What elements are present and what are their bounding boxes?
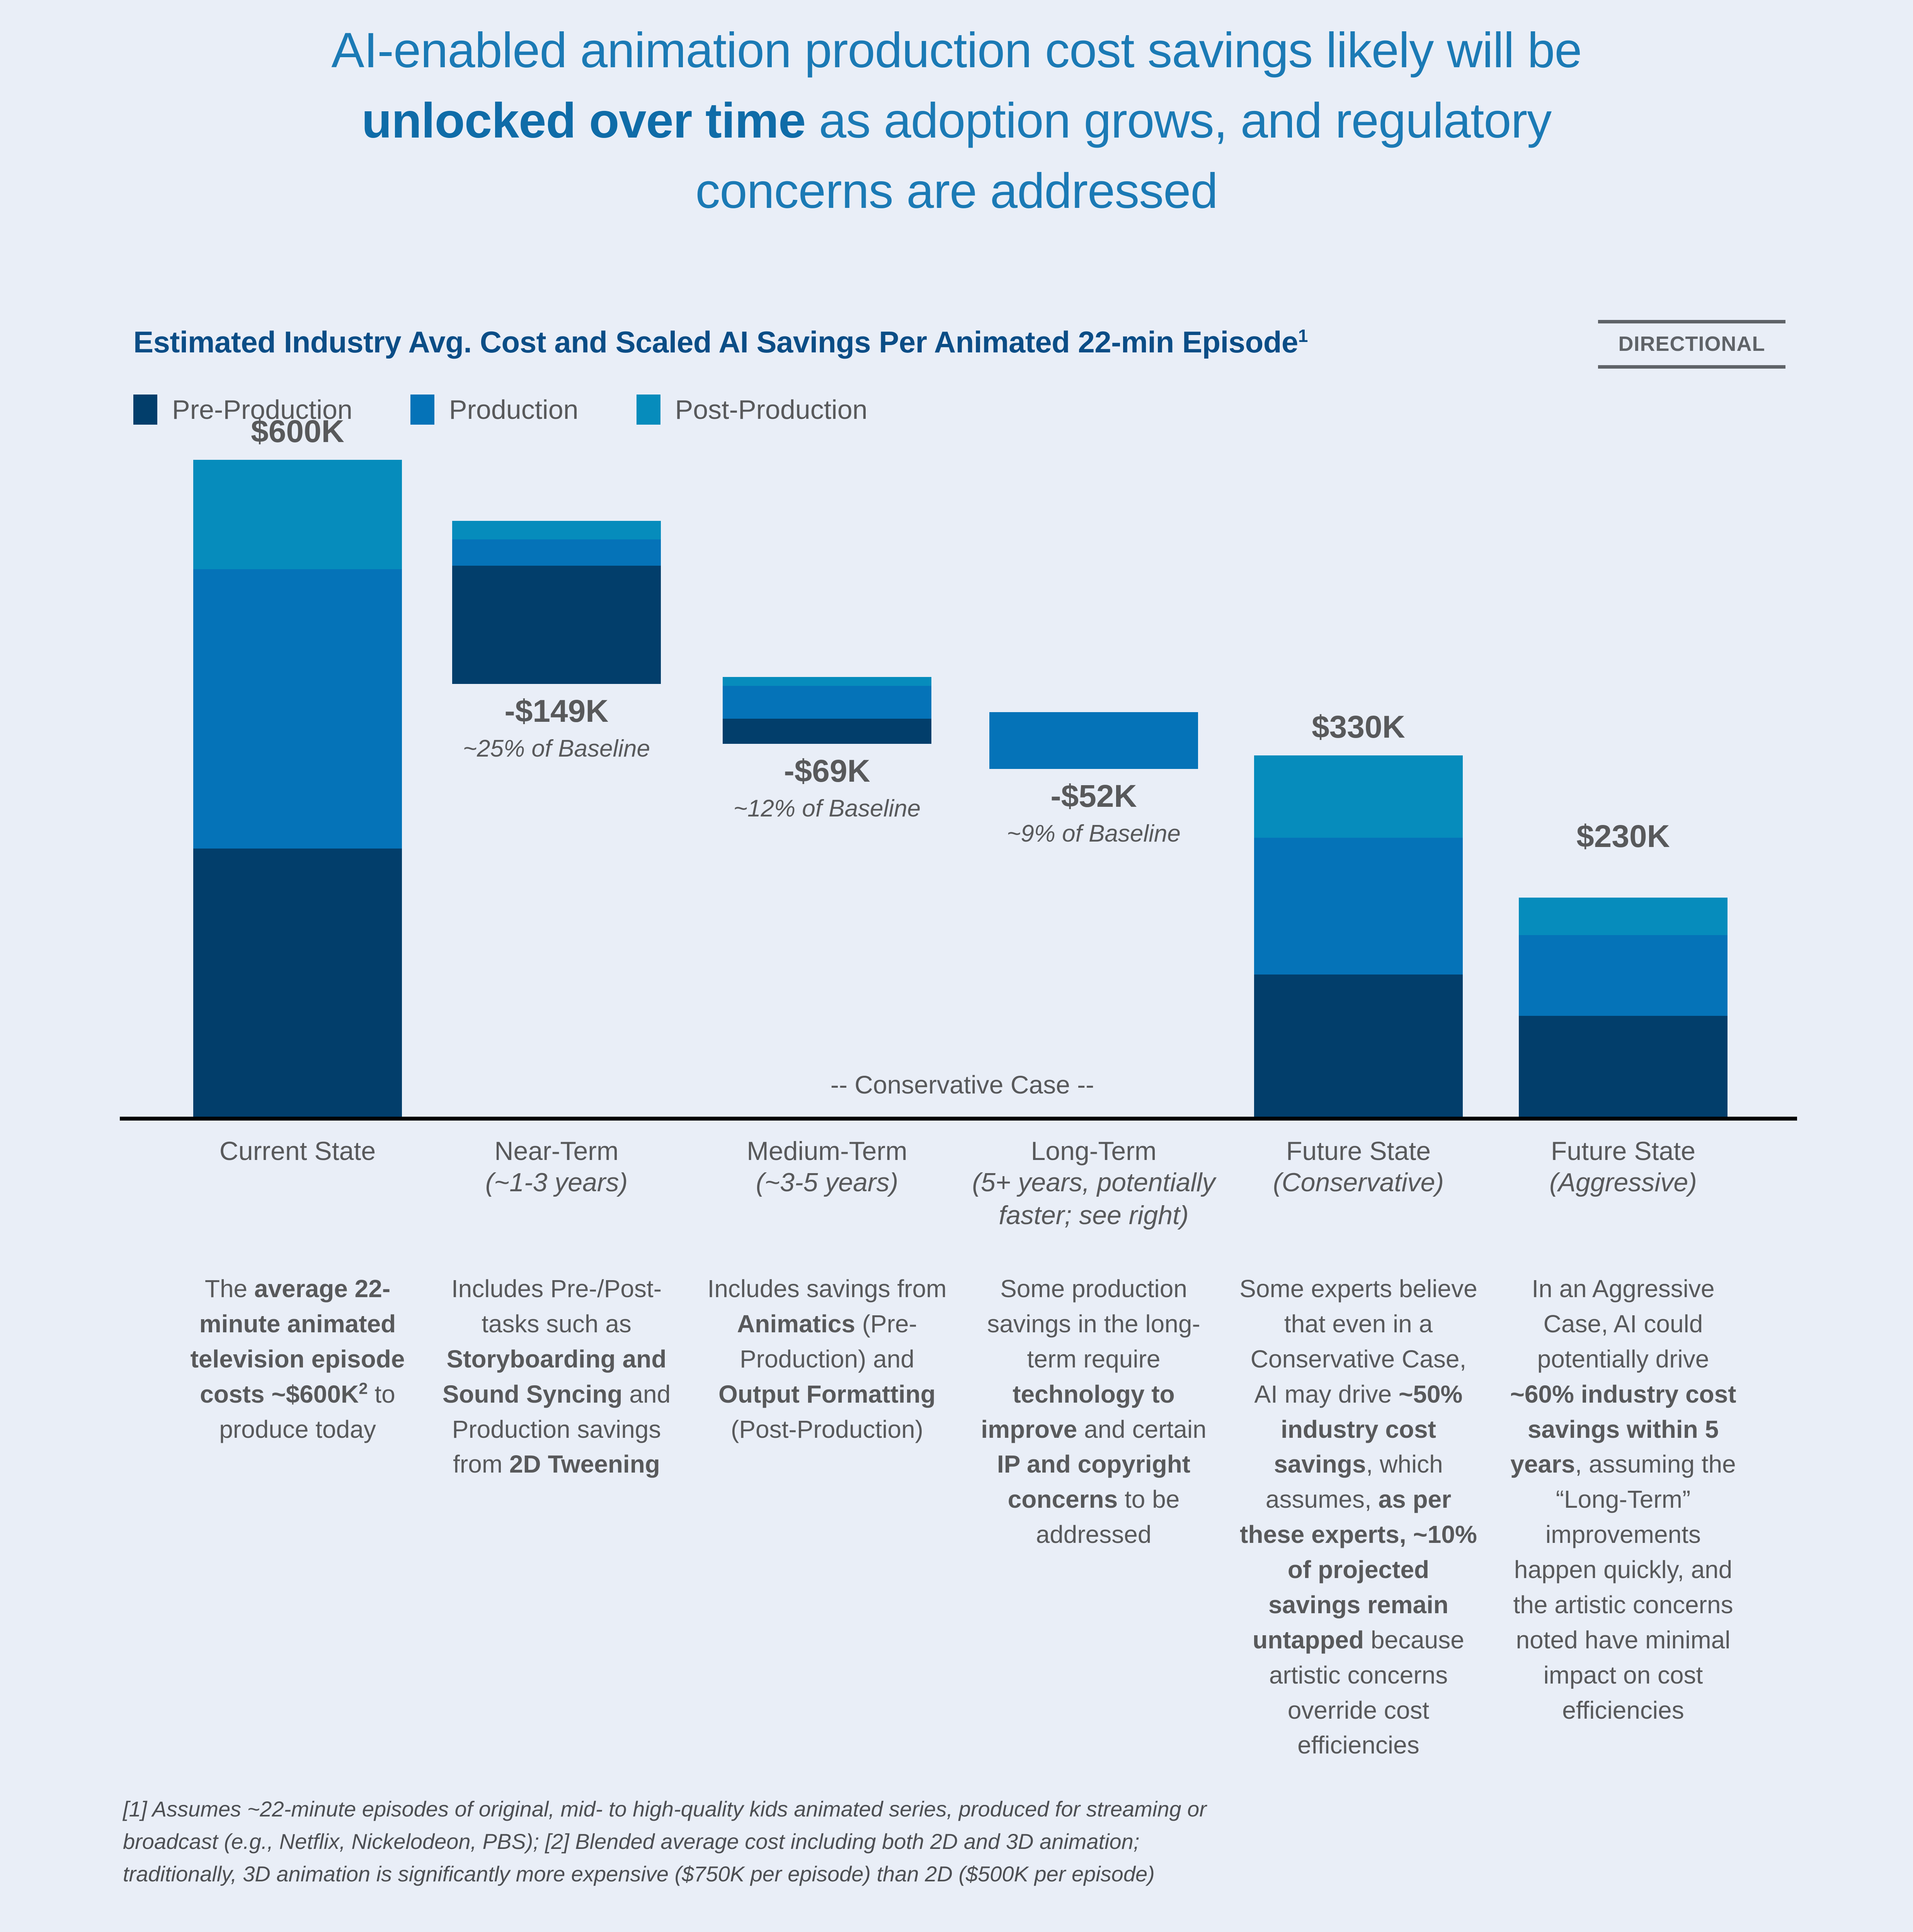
- legend-label: Production: [449, 394, 579, 425]
- badge-label: DIRECTIONAL: [1598, 323, 1785, 365]
- bar-column[interactable]: [193, 460, 402, 1117]
- bar-column[interactable]: [989, 712, 1198, 769]
- chart-title: Estimated Industry Avg. Cost and Scaled …: [133, 325, 1308, 360]
- footnotes: [1] Assumes ~22-minute episodes of origi…: [123, 1793, 1785, 1890]
- stacked-bar[interactable]: [989, 712, 1198, 769]
- category-label-primary: Near-Term: [421, 1136, 692, 1166]
- directional-badge: DIRECTIONAL: [1598, 320, 1785, 369]
- badge-top-rule: [1598, 320, 1785, 323]
- badge-bottom-rule: [1598, 365, 1785, 369]
- bar-segment-production[interactable]: [1519, 935, 1727, 1016]
- category-label-4: Long-Term(5+ years, potentially faster; …: [958, 1136, 1229, 1232]
- bar-segment-production[interactable]: [723, 686, 931, 719]
- footnote-line-1: [1] Assumes ~22-minute episodes of origi…: [123, 1793, 1785, 1825]
- description-column-3: Includes savings from Animatics (Pre-Pro…: [707, 1271, 947, 1447]
- bar-column[interactable]: [452, 521, 661, 684]
- bar-segment-production[interactable]: [1254, 838, 1463, 975]
- bar-percent-of-baseline: ~12% of Baseline: [707, 795, 947, 822]
- category-label-secondary: (~3-5 years): [692, 1166, 962, 1199]
- legend-swatch-icon: [637, 395, 660, 425]
- bar-segment-post-production[interactable]: [193, 460, 402, 569]
- title-line-2-rest: as adoption grows, and regulatory: [805, 93, 1551, 148]
- bar-percent-of-baseline: ~9% of Baseline: [974, 820, 1213, 847]
- bar-column[interactable]: [723, 677, 931, 744]
- x-axis-line: [120, 1117, 1797, 1121]
- legend-label: Post-Production: [675, 394, 868, 425]
- category-label-primary: Long-Term: [958, 1136, 1229, 1166]
- bar-segment-production[interactable]: [452, 539, 661, 566]
- conservative-case-annotation: -- Conservative Case --: [692, 1070, 1233, 1099]
- stacked-bar[interactable]: [1519, 898, 1727, 1117]
- category-label-5: Future State(Conservative): [1223, 1136, 1494, 1199]
- bar-value-label-group: -$69K~12% of Baseline: [707, 753, 947, 822]
- bar-segment-post-production[interactable]: [1254, 755, 1463, 838]
- stacked-bar[interactable]: [723, 677, 931, 744]
- category-label-secondary: (~1-3 years): [421, 1166, 692, 1199]
- description-column-1: The average 22-minute animated televisio…: [178, 1271, 417, 1447]
- bar-segment-production[interactable]: [989, 712, 1198, 769]
- bar-percent-of-baseline: ~25% of Baseline: [437, 735, 676, 762]
- title-line-2: unlocked over time as adoption grows, an…: [0, 86, 1913, 156]
- legend-item-post-production: Post-Production: [637, 394, 868, 425]
- bar-segment-post-production[interactable]: [723, 677, 931, 686]
- description-column-2: Includes Pre-/Post-tasks such as Storybo…: [437, 1271, 676, 1482]
- category-label-primary: Current State: [162, 1136, 433, 1166]
- bar-value-label: -$149K: [437, 693, 676, 730]
- x-axis-category-labels: Current StateNear-Term(~1-3 years)Medium…: [120, 1136, 1797, 1244]
- title-line-1: AI-enabled animation production cost sav…: [0, 15, 1913, 86]
- bar-segment-post-production[interactable]: [1519, 898, 1727, 935]
- bar-segment-pre-production[interactable]: [1519, 1016, 1727, 1117]
- bar-column[interactable]: [1519, 898, 1727, 1117]
- stacked-bar[interactable]: [452, 521, 661, 684]
- title-emphasis: unlocked over time: [362, 93, 806, 148]
- bar-value-label-group: -$52K~9% of Baseline: [974, 778, 1213, 847]
- stacked-bar[interactable]: [1254, 755, 1463, 1117]
- category-label-1: Current State: [162, 1136, 433, 1166]
- category-label-primary: Medium-Term: [692, 1136, 962, 1166]
- category-label-secondary: (Conservative): [1223, 1166, 1494, 1199]
- bar-segment-pre-production[interactable]: [452, 566, 661, 684]
- legend-swatch-icon: [410, 395, 434, 425]
- description-column-6: In an Aggressive Case, AI could potentia…: [1503, 1271, 1743, 1728]
- footnote-line-3: traditionally, 3D animation is significa…: [123, 1858, 1785, 1890]
- bar-value-label: $230K: [1519, 818, 1727, 855]
- category-label-secondary: (5+ years, potentially faster; see right…: [958, 1166, 1229, 1232]
- page-title: AI-enabled animation production cost sav…: [0, 15, 1913, 226]
- bar-segment-pre-production[interactable]: [1254, 975, 1463, 1117]
- bar-value-label-group: -$149K~25% of Baseline: [437, 693, 676, 762]
- category-label-secondary: (Aggressive): [1488, 1166, 1758, 1199]
- chart-title-footnote-marker: 1: [1298, 326, 1308, 346]
- chart-plot-area: -- Conservative Case -- $600K-$149K~25% …: [120, 456, 1797, 1121]
- category-label-6: Future State(Aggressive): [1488, 1136, 1758, 1199]
- description-column-4: Some production savings in the long-term…: [974, 1271, 1213, 1552]
- bar-value-label: $600K: [193, 413, 402, 450]
- bar-value-label: $330K: [1254, 709, 1463, 745]
- bar-segment-post-production[interactable]: [452, 521, 661, 539]
- category-label-primary: Future State: [1488, 1136, 1758, 1166]
- chart-title-text: Estimated Industry Avg. Cost and Scaled …: [133, 325, 1298, 359]
- category-label-primary: Future State: [1223, 1136, 1494, 1166]
- legend-item-production: Production: [410, 394, 579, 425]
- stacked-bar[interactable]: [193, 460, 402, 1117]
- description-column-5: Some experts believe that even in a Cons…: [1239, 1271, 1478, 1763]
- bar-column[interactable]: [1254, 755, 1463, 1117]
- category-label-3: Medium-Term(~3-5 years): [692, 1136, 962, 1199]
- category-label-2: Near-Term(~1-3 years): [421, 1136, 692, 1199]
- legend-swatch-icon: [133, 395, 157, 425]
- bar-segment-pre-production[interactable]: [723, 719, 931, 744]
- footnote-line-2: broadcast (e.g., Netflix, Nickelodeon, P…: [123, 1825, 1785, 1858]
- bar-value-label: -$69K: [707, 753, 947, 789]
- bar-value-label: -$52K: [974, 778, 1213, 815]
- bar-segment-pre-production[interactable]: [193, 849, 402, 1117]
- bar-segment-production[interactable]: [193, 569, 402, 849]
- title-line-3: concerns are addressed: [0, 156, 1913, 226]
